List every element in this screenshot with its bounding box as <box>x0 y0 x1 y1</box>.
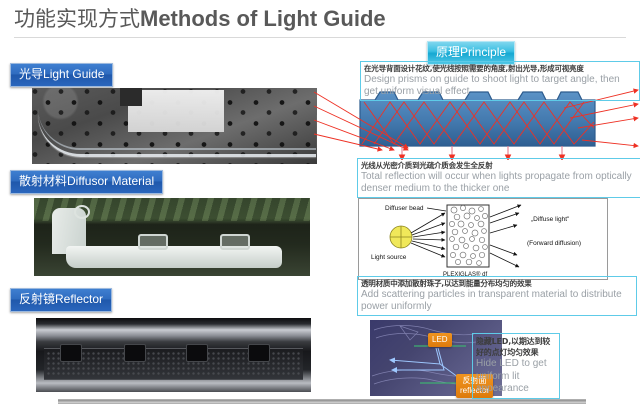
principle-badge-cn: 原理 <box>436 45 460 59</box>
label-reflector: 反射镜Reflector <box>10 288 112 312</box>
led-callout: LED <box>428 333 452 347</box>
prism-caption: 在光导背面设计花纹,使光线按照需要的角度,射出光导,形成可视亮度 Design … <box>360 61 640 101</box>
label-diffusor-cn: 散射材料 <box>19 174 67 188</box>
bottom-divider-bar <box>58 399 586 404</box>
label-diffusor-material: 散射材料Diffusor Material <box>10 170 163 194</box>
label-reflector-en: Reflector <box>55 292 103 306</box>
total-reflection-caption: 光线从光密介质到光疏介质会发生全反射 Total reflection will… <box>357 158 640 198</box>
diffusor-part <box>52 208 282 266</box>
hide-led-caption: 隐藏LED,以期达到较好的点灯均匀效果 Hide LED to get unif… <box>472 333 560 399</box>
label-light-guide-cn: 光导 <box>19 67 43 81</box>
diffusor-part-hook <box>74 205 90 219</box>
dark-fixture <box>120 88 142 106</box>
total-reflection-caption-cn: 光线从光密介质到光疏介质会发生全反射 <box>361 161 639 171</box>
label-light-guide: 光导Light Guide <box>10 63 113 87</box>
diffusor-clip-2 <box>220 234 250 250</box>
led-module-1 <box>60 344 82 362</box>
title-divider <box>14 37 626 38</box>
led-module-2 <box>124 344 146 362</box>
hide-led-caption-cn: 隐藏LED,以期达到较好的点灯均匀效果 <box>476 336 556 358</box>
scattering-caption: 透明材质中添加散射珠子,以达到能量分布均匀的效果 Add scattering … <box>357 276 637 316</box>
light-guide-rod-highlight <box>38 108 316 150</box>
light-path-rays <box>390 348 444 370</box>
diffusor-part-bar <box>66 246 282 268</box>
diffuser-bead-figure: Diffuser bead Light source „Diffuse ligh… <box>358 198 608 280</box>
hide-led-caption-en: Hide LED to get uniform lit appearance <box>476 358 556 396</box>
scattering-caption-en: Add scattering particles in transparent … <box>361 289 633 313</box>
light-source-label: Light source <box>371 254 407 261</box>
principle-badge-en: Principle <box>460 45 506 59</box>
scattering-caption-cn: 透明材质中添加散射珠子,以达到能量分布均匀的效果 <box>361 279 633 289</box>
diffuse-light-label: „Diffuse light" <box>531 216 570 223</box>
label-light-guide-en: Light Guide <box>43 67 104 81</box>
prism-caption-en: Design prisms on guide to shoot light to… <box>364 74 636 98</box>
page-title-en: Methods of Light Guide <box>140 6 386 31</box>
led-module-4 <box>248 344 270 362</box>
diffusor-clip-1 <box>138 234 168 250</box>
diffusor-photo <box>34 198 310 276</box>
slide-canvas: 功能实现方式Methods of Light Guide 光导Light Gui… <box>0 0 640 409</box>
forward-diffusion-label: (Forward diffusion) <box>527 240 581 247</box>
page-title: 功能实现方式Methods of Light Guide <box>14 4 624 34</box>
prism-caption-cn: 在光导背面设计花纹,使光线按照需要的角度,射出光导,形成可视亮度 <box>364 64 636 74</box>
label-diffusor-en: Diffusor Material <box>67 174 154 188</box>
page-title-cn: 功能实现方式 <box>14 7 140 31</box>
incident-rays <box>411 213 445 257</box>
led-module-3 <box>186 344 208 362</box>
light-guide-photo <box>32 88 317 164</box>
reflector-photo <box>36 318 311 392</box>
diffused-rays <box>490 205 521 267</box>
diffuser-bead-label: Diffuser bead <box>385 205 424 212</box>
led-callout-label: LED <box>432 335 448 344</box>
total-reflection-caption-en: Total reflection will occur when lights … <box>361 171 639 195</box>
label-reflector-cn: 反射镜 <box>19 292 55 306</box>
